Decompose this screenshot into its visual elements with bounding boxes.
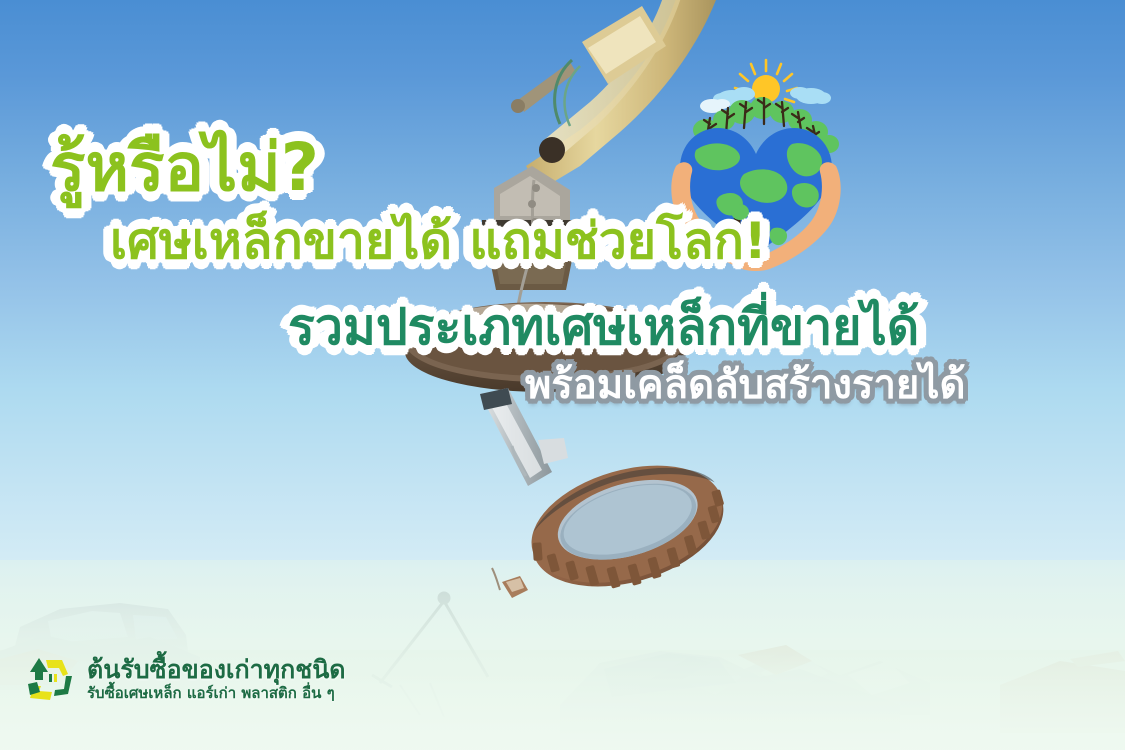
headline-group: รู้หรือไม่? เศษเหล็กขายได้ แถมช่วยโลก! ร…: [0, 0, 1125, 430]
brand-logo: ต้นรับซื้อของเก่าทุกชนิด รับซื้อเศษเหล็ก…: [24, 652, 346, 706]
headline-line-4: พร้อมเคล็ดลับสร้างรายได้: [525, 352, 965, 416]
scrap-bolt: [492, 568, 528, 598]
headline-line-2: เศษเหล็กขายได้ แถมช่วยโลก!: [110, 202, 767, 281]
recycling-promo-banner: รู้หรือไม่? เศษเหล็กขายได้ แถมช่วยโลก! ร…: [0, 0, 1125, 750]
logo-subtitle: รับซื้อเศษเหล็ก แอร์เก่า พลาสติก อื่น ๆ: [87, 685, 346, 701]
logo-text-block: ต้นรับซื้อของเก่าทุกชนิด รับซื้อเศษเหล็ก…: [87, 656, 346, 701]
recycle-icon: [24, 652, 78, 706]
logo-title: ต้นรับซื้อของเก่าทุกชนิด: [87, 656, 346, 683]
